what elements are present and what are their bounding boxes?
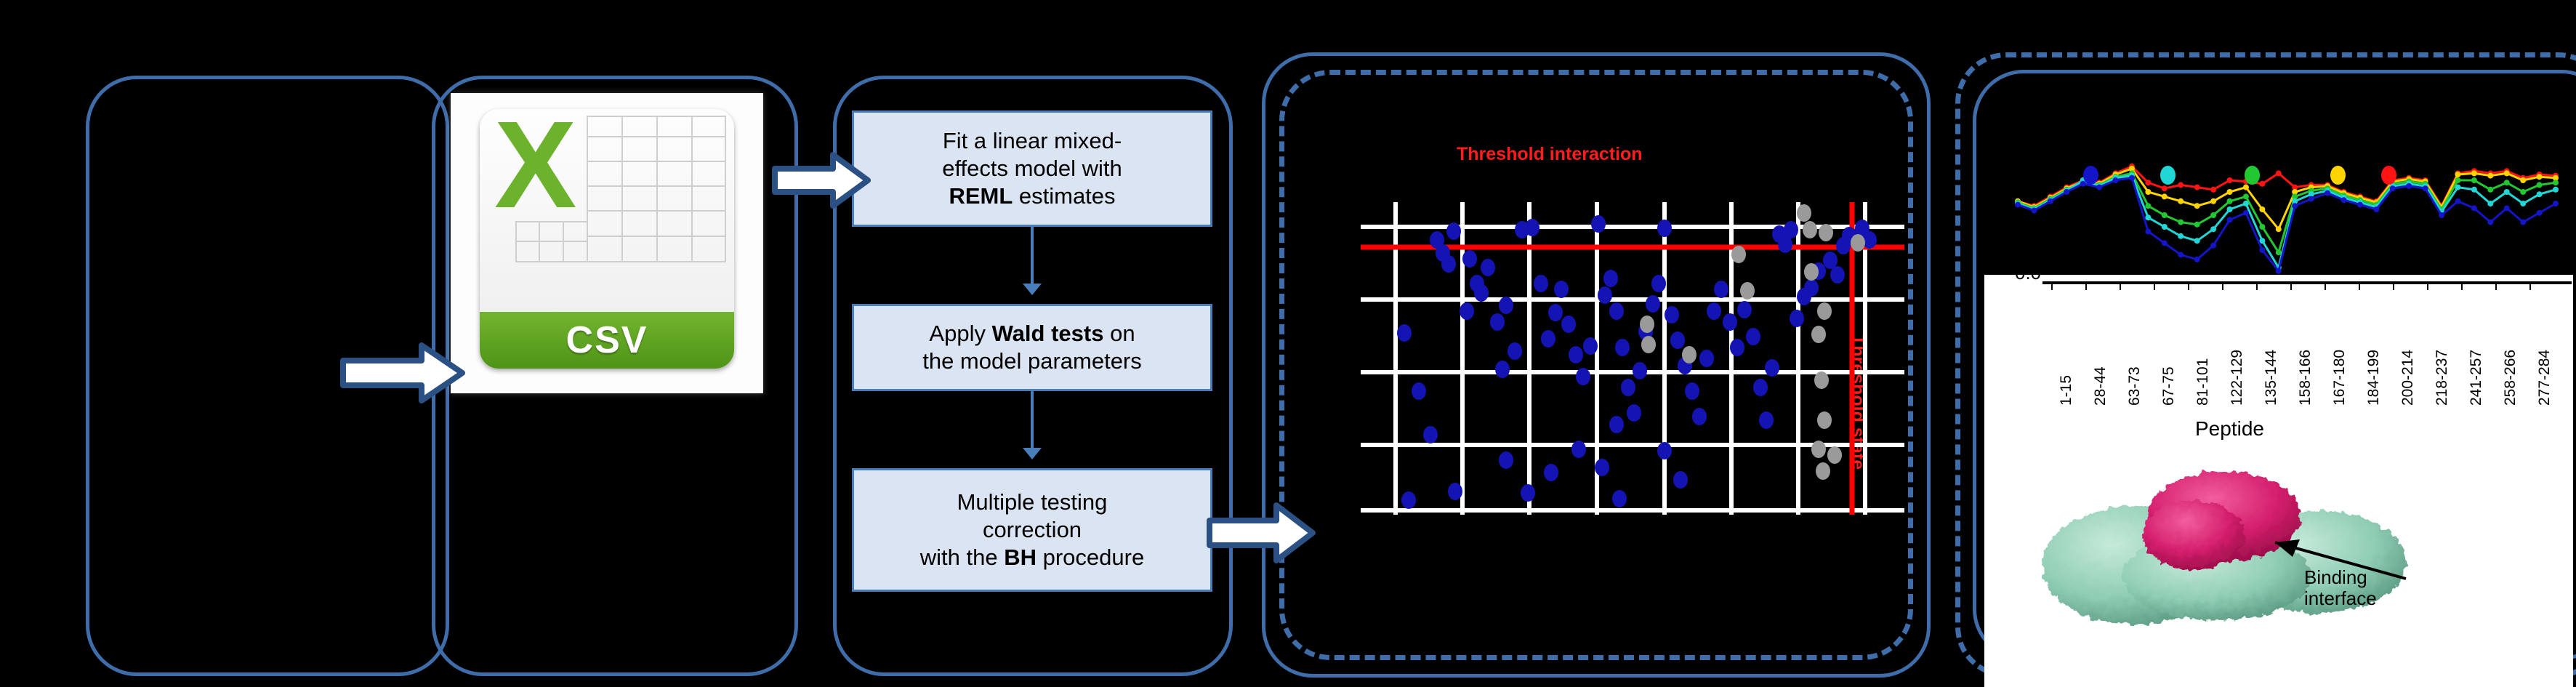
legend-dot-red	[2381, 166, 2396, 185]
chart-point	[2325, 190, 2330, 196]
chart-point	[2537, 182, 2543, 188]
chart-point	[2292, 203, 2298, 209]
connector-2	[1031, 391, 1034, 454]
chart-point	[2406, 183, 2412, 189]
x-axis-tick	[2256, 284, 2258, 290]
chart-point	[2129, 175, 2135, 181]
chart-point	[2357, 202, 2363, 208]
x-axis-tick	[2188, 284, 2189, 290]
scatter-title: Threshold interaction	[1457, 144, 1643, 165]
annotation-line-1: Binding	[2304, 567, 2377, 588]
chart-point	[2227, 177, 2233, 183]
chart-point	[2471, 187, 2477, 193]
chart-point	[2373, 206, 2379, 212]
x-axis-tick	[2120, 284, 2121, 290]
legend-dot-blue	[2083, 166, 2098, 185]
legend-dot-yellow	[2330, 166, 2346, 185]
peptide-tick-label: 1-15	[2058, 375, 2075, 406]
chart-point	[2471, 205, 2477, 211]
peptide-tick-label: 122-129	[2229, 350, 2246, 406]
csv-x-letter: X	[494, 109, 576, 227]
chart-point	[2487, 173, 2493, 179]
x-axis-tick	[2222, 284, 2223, 290]
chart-point	[2390, 185, 2396, 191]
x-axis-title: Peptide	[2195, 417, 2264, 441]
chart-point	[2210, 226, 2216, 232]
chart-point	[2243, 201, 2249, 206]
peptide-tick-label: 218-237	[2434, 350, 2451, 406]
chart-point	[2210, 212, 2216, 218]
chart-point	[2031, 208, 2037, 214]
chart-point	[2162, 240, 2168, 246]
chart-point	[2276, 249, 2282, 255]
chart-point	[2537, 191, 2543, 197]
chart-point	[2276, 268, 2282, 274]
connector-1	[1031, 227, 1034, 289]
chart-point	[2145, 214, 2151, 220]
chart-point	[2309, 196, 2314, 202]
chart-point	[2487, 220, 2493, 225]
chart-point	[2243, 210, 2249, 216]
chart-point	[2178, 252, 2183, 257]
structure-figure-panel: 0.0 1-1528-4463-7367-7581-101122-129135-…	[1984, 275, 2573, 687]
chart-point	[2276, 226, 2282, 232]
scatter-canvas	[1361, 202, 1904, 515]
chart-point	[2259, 247, 2265, 253]
chart-point	[2520, 177, 2526, 183]
chart-point	[2455, 177, 2460, 183]
x-axis-tick	[2393, 284, 2394, 290]
chart-point	[2520, 220, 2526, 225]
chart-point	[2487, 201, 2493, 206]
chart-point	[2145, 228, 2151, 234]
csv-band-label: CSV	[566, 318, 648, 362]
chart-point	[2178, 220, 2183, 225]
x-axis-tick	[2495, 284, 2497, 290]
chart-point	[2276, 170, 2282, 176]
chart-point	[2210, 187, 2216, 193]
flow-arrow-3	[1207, 502, 1316, 564]
peptide-tick-label: 67-75	[2160, 366, 2178, 406]
peptide-tick-label: 258-266	[2502, 350, 2519, 406]
chart-point	[2243, 185, 2249, 190]
x-axis-tick	[2325, 284, 2326, 290]
x-axis-line	[2042, 281, 2572, 284]
chart-point	[2145, 180, 2151, 185]
x-axis-tick	[2051, 284, 2053, 290]
x-axis-tick	[2529, 284, 2531, 290]
chart-point	[2194, 222, 2200, 228]
chart-point	[2064, 189, 2069, 195]
chart-point	[2015, 202, 2021, 208]
peptide-tick-label: 135-144	[2263, 350, 2280, 406]
chart-point	[2178, 233, 2183, 239]
chart-point	[2520, 201, 2526, 206]
peptide-tick-label: 63-73	[2126, 366, 2144, 406]
y-axis-value-label: 0.0	[2015, 275, 2041, 284]
chart-point	[2194, 257, 2200, 262]
multiple-testing-box: Multiple testingcorrectionwith the BH pr…	[852, 468, 1212, 592]
annotation-line-2: interface	[2304, 588, 2377, 609]
chart-point	[2145, 189, 2151, 195]
chart-point	[2162, 212, 2168, 218]
connector-arrowhead-1	[1023, 284, 1042, 295]
chart-point	[2504, 180, 2510, 185]
x-axis-tick	[2461, 284, 2463, 290]
legend-dot-green	[2245, 166, 2260, 185]
chart-point	[2259, 206, 2265, 212]
chart-point	[2537, 210, 2543, 216]
chart-point	[2145, 203, 2151, 209]
x-axis-tick	[2290, 284, 2292, 290]
multiple-testing-text: Multiple testingcorrectionwith the BH pr…	[920, 489, 1144, 571]
peptide-tick-label: 241-257	[2468, 350, 2485, 406]
x-axis-tick	[2427, 284, 2428, 290]
chart-point	[2259, 181, 2265, 187]
chart-point	[2096, 185, 2102, 190]
chart-point	[2227, 189, 2233, 195]
peptide-tick-label: 200-214	[2399, 350, 2417, 406]
peptide-tick-label: 184-199	[2365, 350, 2383, 406]
flow-arrow-2	[772, 151, 871, 209]
chart-point	[2553, 180, 2559, 185]
chart-point	[2520, 189, 2526, 195]
wald-tests-text: Apply Wald tests onthe model parameters	[922, 320, 1142, 375]
chart-point	[2471, 170, 2477, 176]
chart-point	[2455, 172, 2460, 177]
chart-point	[2194, 238, 2200, 244]
chart-point	[2227, 206, 2233, 212]
chart-point	[2504, 189, 2510, 195]
chart-point	[2471, 177, 2477, 183]
flow-arrow-1	[340, 342, 465, 404]
x-axis-tick	[2359, 284, 2360, 290]
chart-point	[2162, 224, 2168, 230]
legend-dot-cyan	[2160, 166, 2175, 185]
peptide-tick-label: 277-284	[2536, 350, 2553, 406]
chart-point	[2423, 185, 2428, 191]
chart-point	[2487, 187, 2493, 193]
chart-point	[2162, 185, 2168, 191]
x-axis-tick	[2154, 284, 2155, 290]
chart-point	[2048, 198, 2053, 204]
chart-point	[2194, 203, 2200, 209]
chart-point	[2243, 193, 2249, 199]
connector-arrowhead-2	[1023, 448, 1042, 459]
x-axis-tick	[2085, 284, 2087, 290]
csv-file-icon: X CSV	[451, 93, 763, 393]
chart-point	[2210, 243, 2216, 249]
chart-point	[2455, 198, 2460, 204]
peptide-tick-label: 167-180	[2331, 350, 2348, 406]
scatter-plot: Threshold interaction Threshold state	[1361, 202, 1904, 515]
peptide-tick-label: 81-101	[2194, 358, 2212, 406]
protein-structure-image	[1999, 449, 2435, 667]
peptide-tick-label: 28-44	[2092, 366, 2109, 406]
peptide-tick-label: 158-166	[2297, 350, 2314, 406]
chart-point	[2259, 224, 2265, 230]
chart-point	[2210, 198, 2216, 204]
chart-point	[2553, 187, 2559, 193]
fit-model-text: Fit a linear mixed-effects model withREM…	[942, 127, 1122, 209]
chart-point	[2194, 185, 2200, 190]
binding-interface-annotation: Binding interface	[2304, 567, 2377, 609]
chart-point	[2113, 177, 2119, 183]
chart-point	[2553, 201, 2559, 206]
chart-point	[2455, 185, 2460, 190]
chart-point	[2537, 174, 2543, 180]
chart-point	[2227, 217, 2233, 222]
chart-point	[2178, 198, 2183, 204]
chart-point	[2439, 212, 2444, 218]
chart-point	[2504, 170, 2510, 176]
chart-point	[2162, 193, 2168, 199]
wald-tests-box: Apply Wald tests onthe model parameters	[852, 304, 1212, 391]
chart-point	[2340, 197, 2346, 203]
fit-model-box: Fit a linear mixed-effects model withREM…	[852, 111, 1212, 227]
chart-point	[2227, 198, 2233, 204]
chart-point	[2504, 205, 2510, 211]
chart-point	[2178, 182, 2183, 188]
